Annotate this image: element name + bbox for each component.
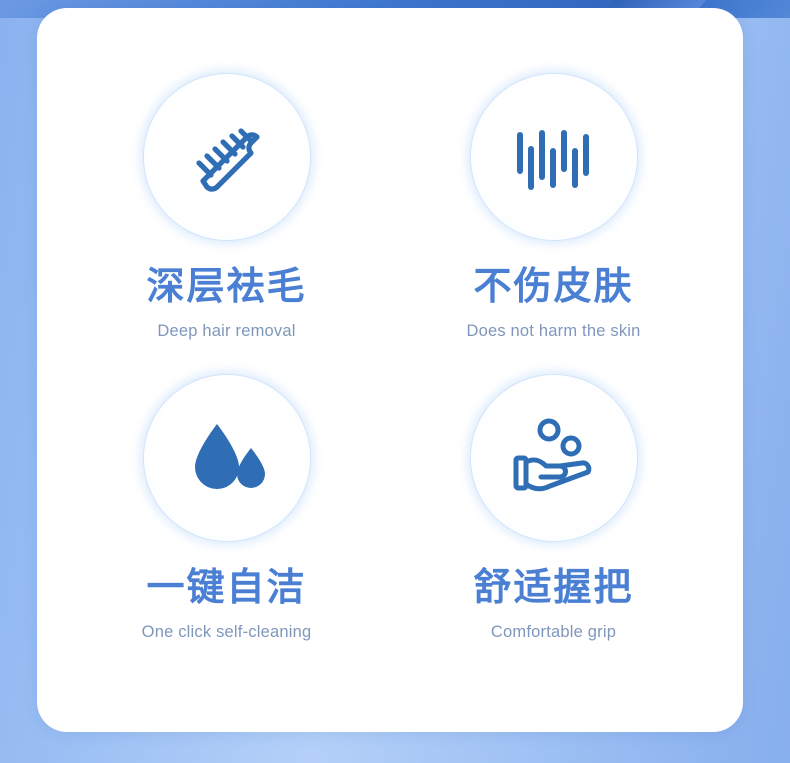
- feature-title-en: One click self-cleaning: [142, 623, 312, 642]
- feature-icon-medallion: [471, 74, 637, 240]
- feature-title-en: Comfortable grip: [491, 623, 616, 642]
- comb-icon: [181, 111, 273, 203]
- feature-title-en: Deep hair removal: [157, 322, 295, 341]
- feature-item-deep-hair-removal[interactable]: 深层祛毛 Deep hair removal: [63, 74, 390, 371]
- feature-item-comfortable-grip[interactable]: 舒适握把 Comfortable grip: [390, 375, 717, 672]
- promo-feature-page: 深层祛毛 Deep hair removal: [0, 0, 790, 763]
- feature-icon-medallion: [144, 375, 310, 541]
- feature-item-one-click-self-cleaning[interactable]: 一键自洁 One click self-cleaning: [63, 375, 390, 672]
- feature-title-cn: 深层祛毛: [146, 266, 306, 310]
- water-drops-icon: [181, 412, 273, 504]
- feature-title-cn: 舒适握把: [473, 567, 633, 611]
- feature-card: 深层祛毛 Deep hair removal: [37, 8, 743, 732]
- feature-icon-medallion: [144, 74, 310, 240]
- feature-grid: 深层祛毛 Deep hair removal: [37, 8, 743, 732]
- hand-holding-icon: [508, 412, 600, 504]
- feature-title-cn: 不伤皮肤: [473, 266, 633, 310]
- feature-item-does-not-harm-skin[interactable]: 不伤皮肤 Does not harm the skin: [390, 74, 717, 371]
- feature-title-cn: 一键自洁: [146, 567, 306, 611]
- feature-icon-medallion: [471, 375, 637, 541]
- soundwave-bars-icon: [508, 111, 600, 203]
- feature-title-en: Does not harm the skin: [466, 322, 640, 341]
